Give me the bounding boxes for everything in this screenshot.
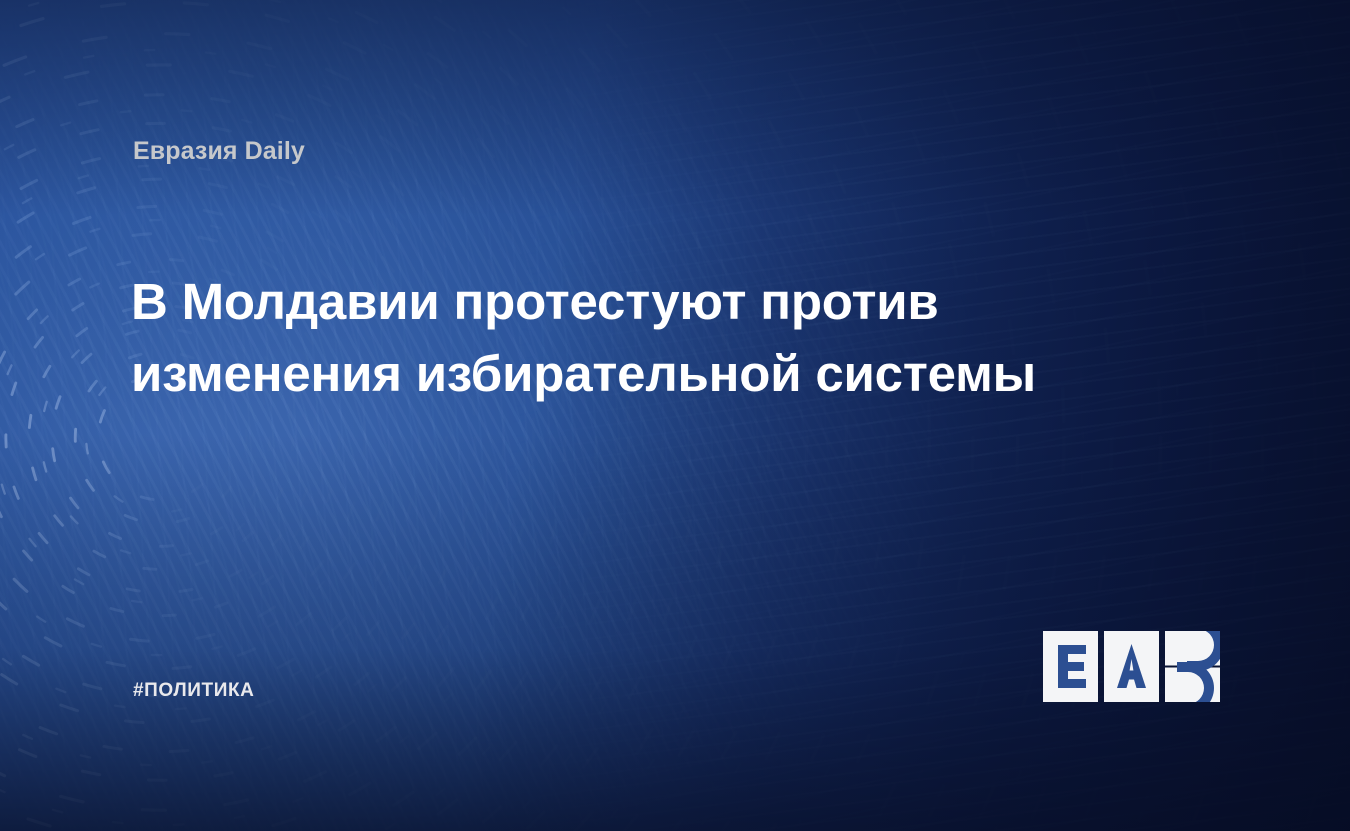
category-tag: #ПОЛИТИКА	[133, 680, 255, 702]
logo-tile-d-icon	[1165, 631, 1220, 702]
article-headline: В Молдавии протестуют против изменения и…	[131, 266, 1071, 411]
site-brand-name: Евразия Daily	[133, 137, 305, 166]
card-content: Евразия Daily В Молдавии протестуют прот…	[0, 0, 1350, 831]
logo-tile-a-icon	[1104, 631, 1159, 702]
logo-tile-e-icon	[1043, 631, 1098, 702]
share-card: Евразия Daily В Молдавии протестуют прот…	[0, 0, 1350, 831]
eadaily-logo[interactable]	[1043, 631, 1219, 702]
